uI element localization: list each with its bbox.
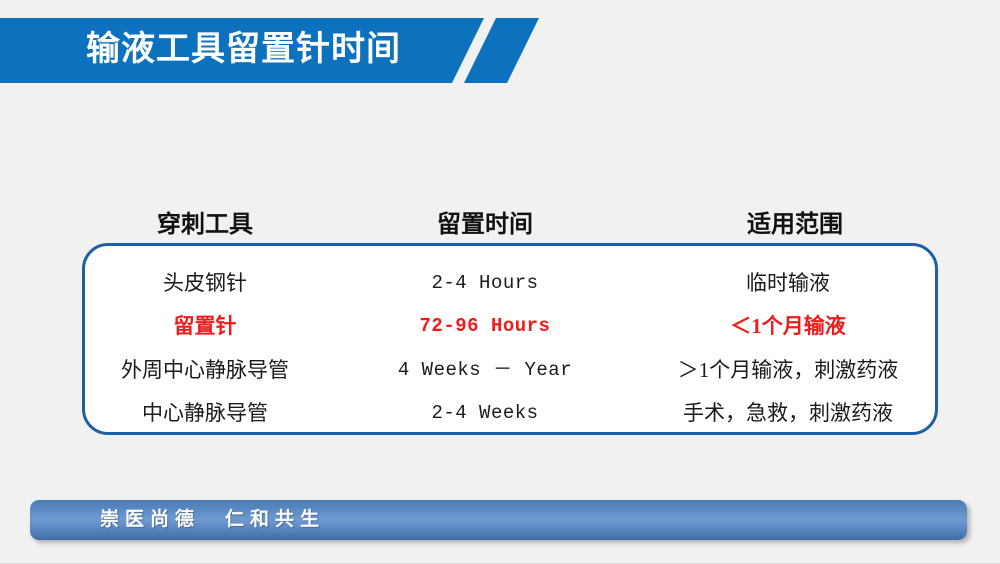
cell-duration: 2-4 Weeks [378, 395, 592, 431]
cell-scope: ＞1个月输液，刺激药液 [644, 352, 932, 388]
page-title: 输液工具留置针时间 [86, 24, 486, 76]
cell-tool: 头皮钢针 [96, 265, 314, 301]
table-row: 头皮钢针 2-4 Hours 临时输液 [82, 265, 938, 301]
table-column-headers: 穿刺工具 留置时间 适用范围 [82, 206, 940, 244]
slide-canvas: 输液工具留置针时间 穿刺工具 留置时间 适用范围 头皮钢针 2-4 Hours … [0, 0, 1000, 564]
table-body: 头皮钢针 2-4 Hours 临时输液 留置针 72-96 Hours ＜1个月… [82, 243, 938, 435]
cell-duration: 4 Weeks － Year [378, 352, 592, 388]
cell-scope: 手术，急救，刺激药液 [644, 395, 932, 431]
cell-scope: ＜1个月输液 [644, 308, 932, 344]
table-row: 外周中心静脉导管 4 Weeks － Year ＞1个月输液，刺激药液 [82, 352, 938, 388]
table-row: 中心静脉导管 2-4 Weeks 手术，急救，刺激药液 [82, 395, 938, 431]
cell-duration: 2-4 Hours [378, 265, 592, 301]
footer-slogan: 崇医尚德 仁和共生 [100, 500, 325, 540]
cell-duration: 72-96 Hours [378, 308, 592, 344]
table-row: 留置针 72-96 Hours ＜1个月输液 [82, 308, 938, 344]
column-header-tool: 穿刺工具 [102, 206, 308, 244]
cell-tool: 外周中心静脉导管 [96, 352, 314, 388]
cell-scope: 临时输液 [644, 265, 932, 301]
column-header-duration: 留置时间 [382, 206, 588, 244]
column-header-scope: 适用范围 [692, 206, 898, 244]
cell-tool: 留置针 [96, 308, 314, 344]
cell-tool: 中心静脉导管 [96, 395, 314, 431]
